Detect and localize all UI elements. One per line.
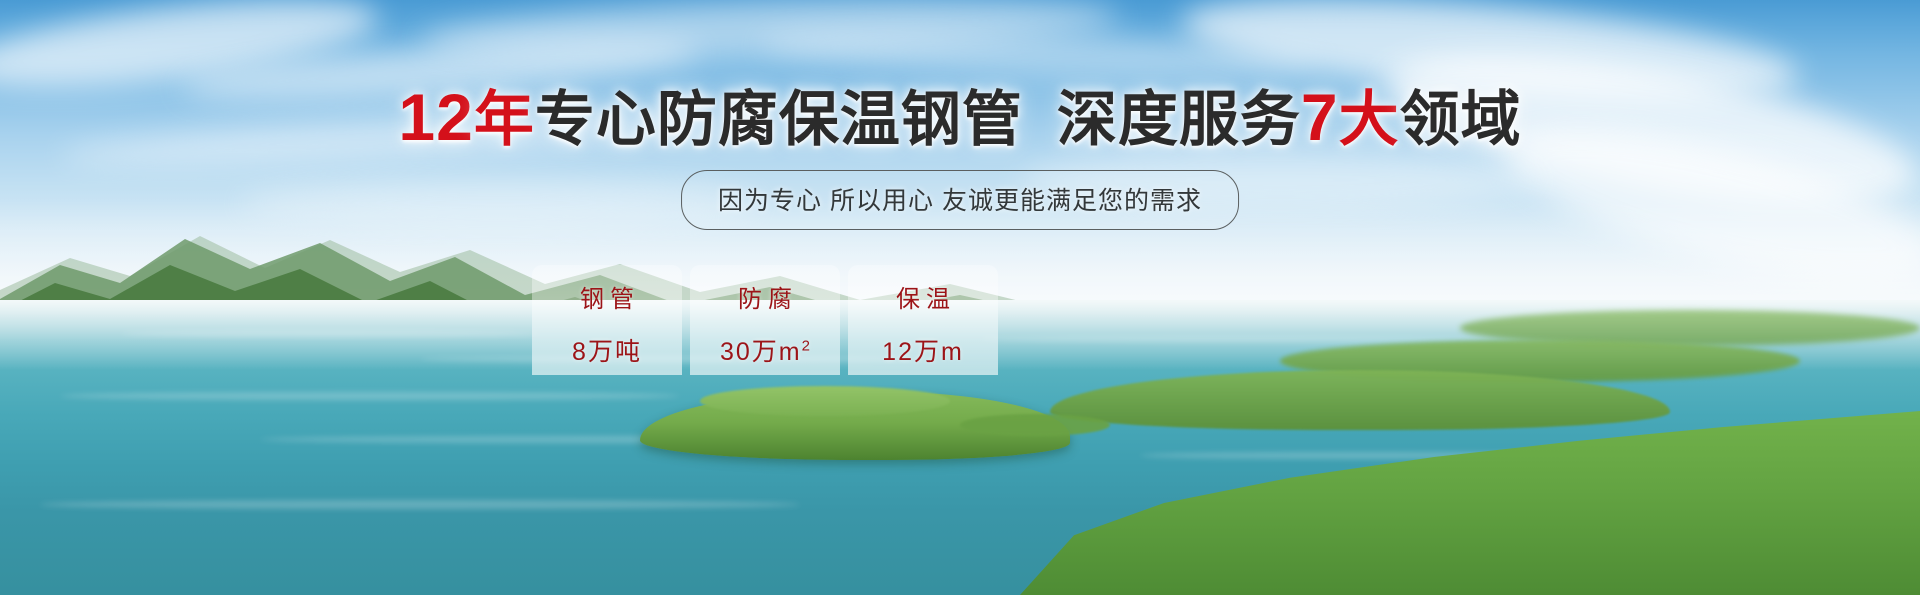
headline-years-number: 12 bbox=[398, 80, 473, 154]
water-streak bbox=[120, 330, 540, 337]
grass-foreground bbox=[0, 555, 1920, 595]
headline-service-text: 深度服务 bbox=[1057, 86, 1301, 153]
stat-card-value: 8万吨 bbox=[572, 332, 642, 368]
water-streak bbox=[980, 336, 1500, 342]
stat-card-label: 防腐 bbox=[732, 279, 798, 314]
stat-card-steel-pipe[interactable]: 钢管 8万吨 bbox=[532, 265, 682, 375]
stat-card-value-text: 8万吨 bbox=[572, 338, 642, 366]
water-streak bbox=[60, 392, 680, 400]
water-streak bbox=[40, 500, 800, 509]
stat-card-label: 钢管 bbox=[574, 279, 640, 314]
stat-card-anticorrosion[interactable]: 防腐 30万m2 bbox=[690, 265, 840, 375]
grass-island-highlight bbox=[700, 386, 950, 416]
headline-main-text: 专心防腐保温钢管 bbox=[535, 86, 1023, 153]
headline-fields-number: 7 bbox=[1301, 80, 1339, 154]
subtitle-pill: 因为专心 所以用心 友诚更能满足您的需求 bbox=[681, 170, 1239, 230]
page-title: 12年专心防腐保温钢管深度服务7大领域 bbox=[0, 84, 1920, 150]
stat-card-value-text: 12万m bbox=[882, 338, 964, 366]
grass-island-tail bbox=[960, 414, 1110, 436]
stat-card-insulation[interactable]: 保温 12万m bbox=[848, 265, 998, 375]
headline-fields-unit: 大 bbox=[1339, 86, 1400, 153]
stat-card-value: 30万m2 bbox=[720, 332, 810, 368]
hero-banner: 12年专心防腐保温钢管深度服务7大领域 因为专心 所以用心 友诚更能满足您的需求… bbox=[0, 0, 1920, 595]
headline-years-unit: 年 bbox=[474, 86, 535, 153]
headline-fields-text: 领域 bbox=[1400, 86, 1522, 153]
stat-card-value-superscript: 2 bbox=[802, 337, 810, 354]
stat-card-group: 钢管 8万吨 防腐 30万m2 保温 12万m bbox=[532, 265, 998, 375]
stat-card-value-text: 30万m bbox=[720, 338, 802, 366]
stat-card-label: 保温 bbox=[890, 279, 956, 314]
stat-card-value: 12万m bbox=[882, 332, 964, 368]
